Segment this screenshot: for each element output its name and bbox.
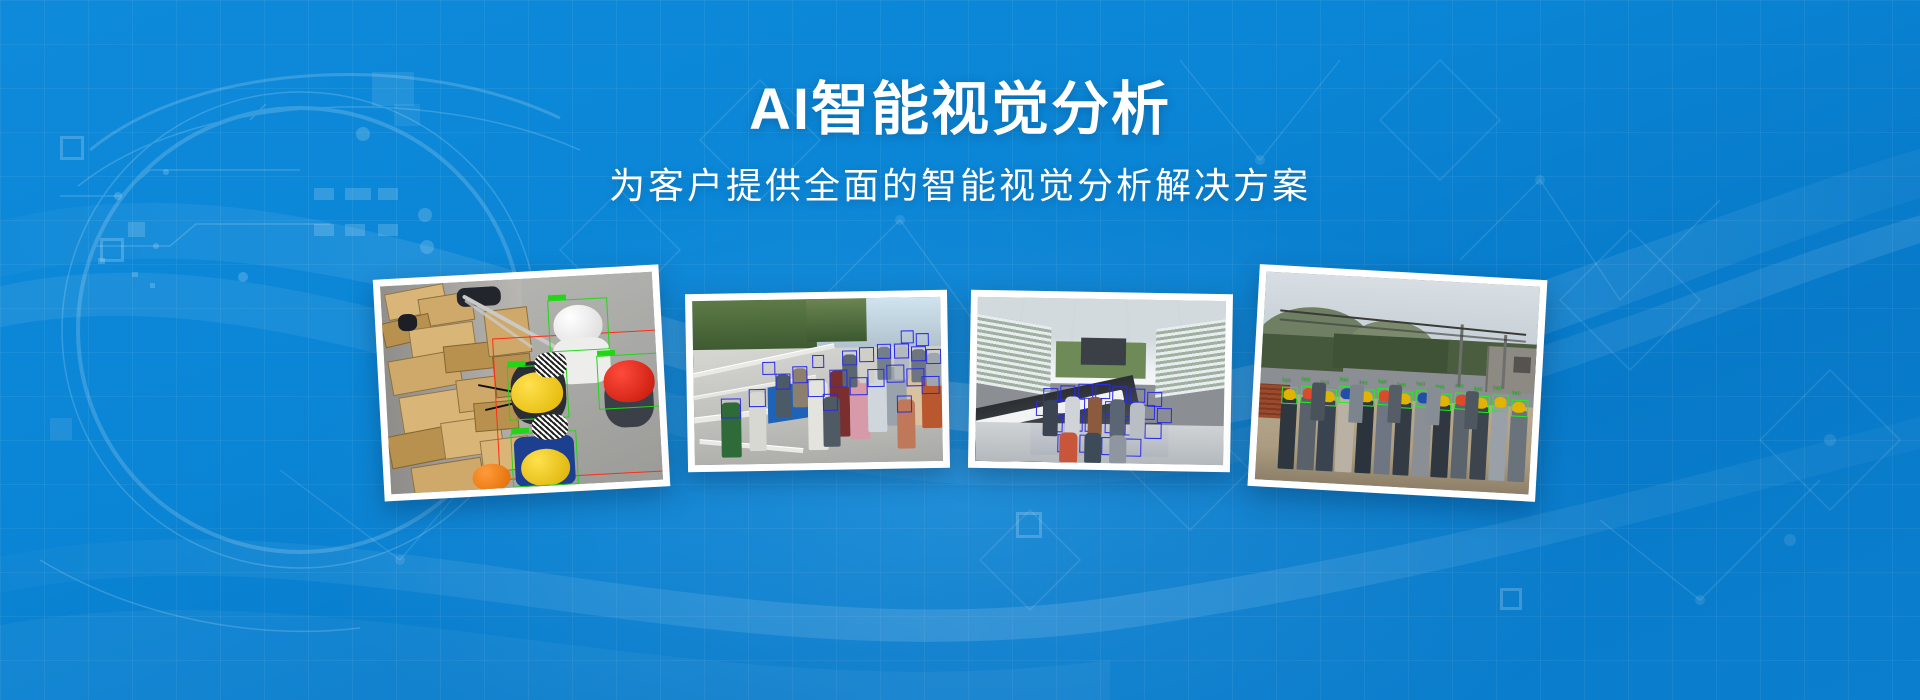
photo-bridge-crowd	[692, 297, 943, 465]
dot-icon	[418, 208, 432, 222]
square-outline-icon	[1500, 588, 1522, 610]
detection-box	[1511, 400, 1528, 418]
photo-station-escalator	[975, 297, 1226, 465]
detection-box	[830, 369, 848, 387]
gallery-card-warehouse-helmet[interactable]	[373, 264, 671, 501]
detection-box	[1157, 408, 1172, 423]
detection-label: hat	[1512, 391, 1521, 396]
detection-box	[748, 388, 766, 406]
gallery-card-bridge-crowd[interactable]	[685, 290, 950, 473]
detection-box	[926, 349, 941, 364]
square-filled-icon	[128, 222, 145, 237]
detection-box	[850, 377, 868, 395]
square-outline-icon	[100, 238, 124, 262]
detection-label: hat	[1493, 386, 1502, 391]
gallery-card-outdoor-group[interactable]: hat hat hat hat hat	[1247, 264, 1547, 502]
detection-box	[812, 355, 825, 368]
detection-box	[792, 366, 807, 383]
detection-box	[916, 333, 929, 346]
detection-label: hat	[1416, 382, 1425, 387]
detection-label: hat	[1340, 378, 1349, 383]
detection-box	[867, 368, 885, 386]
detection-label: hat	[1455, 384, 1464, 389]
page-title: AI智能视觉分析	[0, 78, 1920, 142]
hero-banner: AI智能视觉分析 为客户提供全面的智能视觉分析解决方案	[0, 0, 1920, 700]
detection-box	[1281, 387, 1298, 405]
pixel-block-icon	[314, 224, 334, 236]
detection-box	[823, 394, 838, 411]
louver-wall	[976, 314, 1051, 396]
detection-box	[1492, 395, 1509, 413]
detection-box	[887, 365, 905, 383]
detection-box	[922, 376, 940, 394]
detection-label: hat	[1378, 380, 1387, 385]
banner-text-block: AI智能视觉分析 为客户提供全面的智能视觉分析解决方案	[0, 78, 1920, 207]
dot-icon	[420, 240, 434, 254]
detection-box	[901, 330, 914, 343]
louver-wall	[1155, 318, 1226, 397]
detection-box	[842, 351, 857, 366]
detection-box	[859, 347, 874, 362]
detection-box	[763, 362, 776, 375]
gallery-card-station-escalator[interactable]	[968, 290, 1233, 473]
detection-label: hat	[1282, 379, 1291, 384]
detection-label: hat	[1301, 378, 1310, 383]
detection-box	[1130, 388, 1145, 403]
detection-box	[894, 343, 909, 358]
photo-warehouse-overhead	[380, 272, 663, 494]
detection-box	[876, 344, 891, 359]
page-subtitle: 为客户提供全面的智能视觉分析解决方案	[0, 164, 1920, 207]
detection-box	[775, 373, 790, 390]
detection-box	[1124, 439, 1142, 457]
detection-box	[911, 346, 926, 361]
pixel-block-icon	[345, 224, 365, 236]
detection-box	[897, 396, 912, 413]
detection-box	[596, 353, 661, 410]
detection-box	[547, 297, 610, 352]
detection-box	[721, 399, 741, 419]
detection-box	[1144, 423, 1162, 440]
showcase-gallery: hat hat hat hat hat	[0, 262, 1920, 522]
pixel-block-icon	[378, 224, 398, 236]
photo-outdoor-group: hat hat hat hat hat	[1255, 271, 1540, 494]
